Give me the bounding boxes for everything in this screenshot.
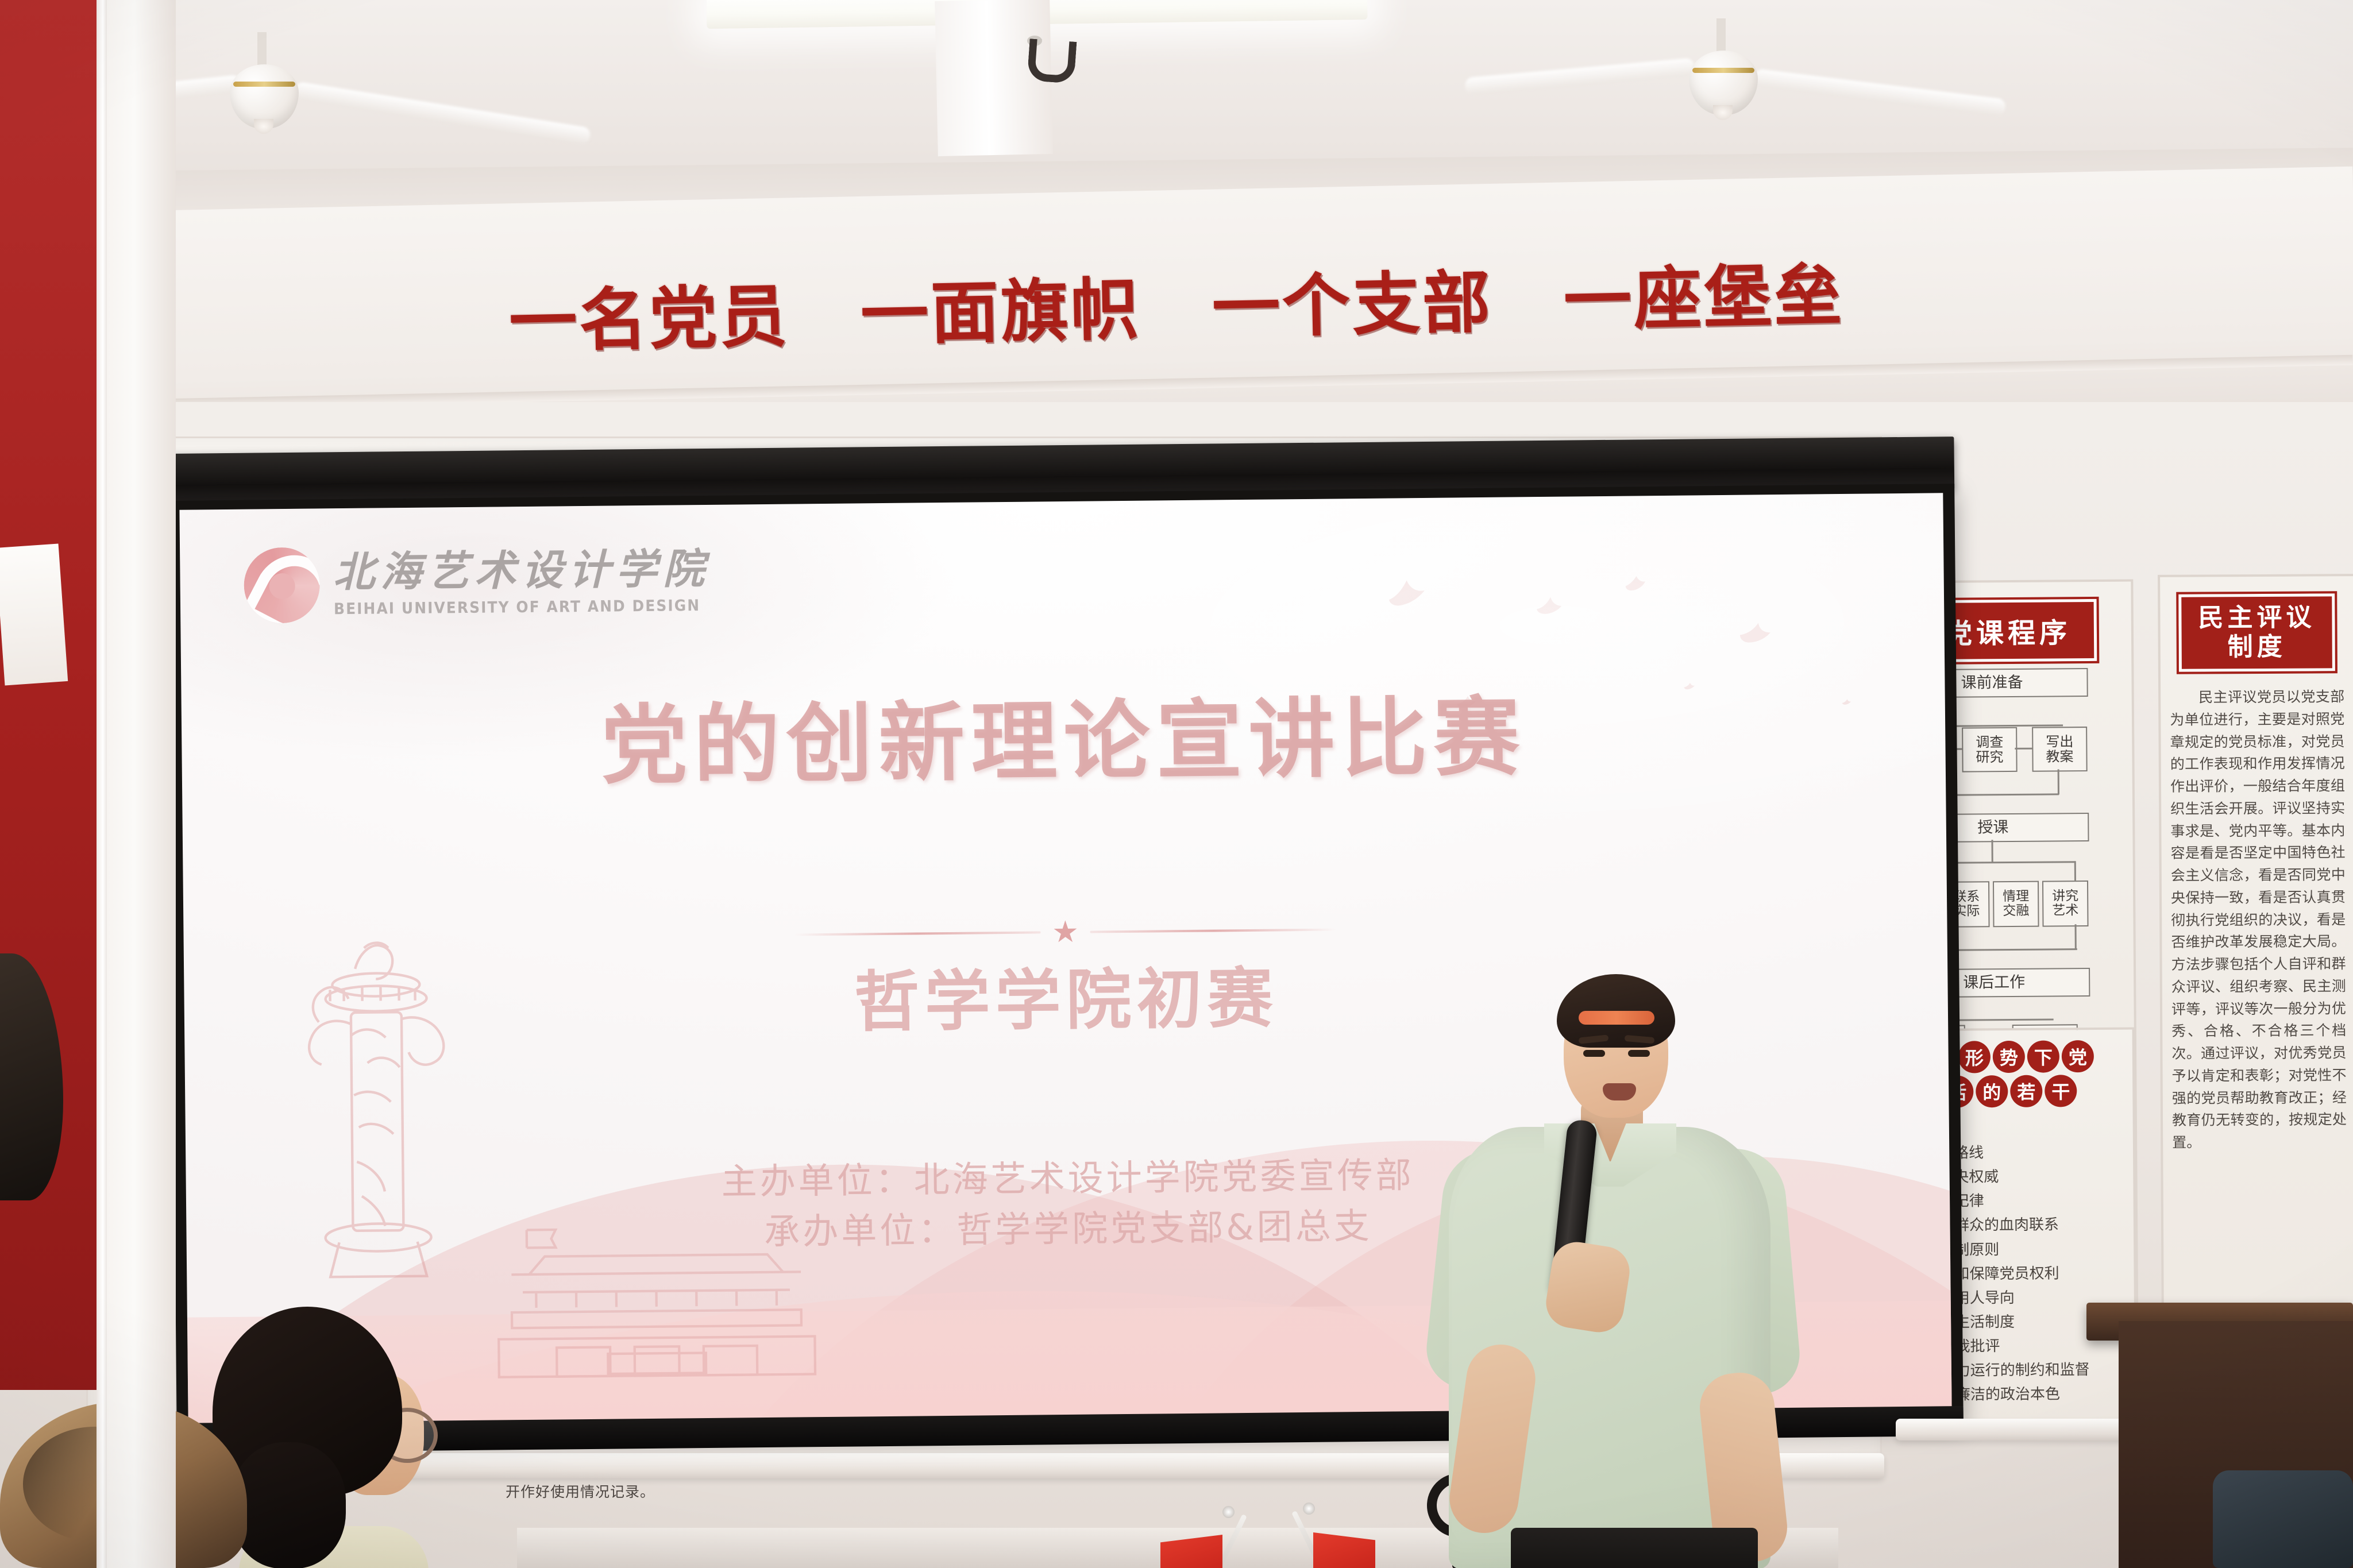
- poster-appraisal-body: 民主评议党员以党支部为单位进行，主要是对照党章规定的党员标准，对党员的工作表现和…: [2161, 671, 2353, 1169]
- flow-box-prep-3: 写出 教案: [2032, 727, 2088, 772]
- divider-star-icon: ★: [1052, 917, 1079, 947]
- poster-appraisal-title-line1: 民主评议: [2181, 603, 2332, 633]
- presenter-eye-left: [1583, 1050, 1605, 1057]
- flow-connector: [2074, 861, 2076, 880]
- university-logo: 北海艺术设计学院 BEIHAI UNIVERSITY OF ART AND DE…: [244, 543, 732, 624]
- fan-rod: [257, 32, 267, 67]
- title-bubble: 下: [2027, 1040, 2059, 1072]
- flow-box-prep-2: 调查 研究: [1962, 727, 2018, 773]
- white-wall-pillar: [107, 0, 176, 1568]
- fan-trim: [233, 82, 295, 87]
- flow-box-teach-3: 情理 交融: [1993, 881, 2039, 928]
- presenter-trousers: [1511, 1528, 1758, 1568]
- screen-hook-plate: [935, 0, 1053, 156]
- flow-connector: [2015, 748, 2032, 750]
- title-bubble: 形: [1958, 1041, 1991, 1073]
- flag-cloth: [1313, 1532, 1375, 1568]
- divider-bar-left: [793, 931, 1040, 936]
- title-bubble: 干: [2045, 1075, 2077, 1107]
- whiteboard-usage-note: 开作好使用情况记录。: [506, 1481, 655, 1501]
- title-bubble: 的: [1976, 1075, 2008, 1107]
- title-bubble: 党: [2062, 1040, 2094, 1072]
- classroom-scene: 一名党员 一面旗帜 一个支部 一座堡垒 开作好使用情况记录。 党课程序 课前准备…: [0, 0, 2353, 1568]
- presenter-mouth: [1603, 1083, 1636, 1100]
- presenter-forehead-highlight: [1579, 1011, 1654, 1025]
- flow-connector: [2058, 769, 2059, 794]
- projection-screen-hook-icon: [1027, 38, 1077, 84]
- office-chair: [2213, 1470, 2353, 1568]
- logo-chinese-name: 北海艺术设计学院: [333, 548, 732, 593]
- poster-appraisal-title: 民主评议 制度: [2178, 593, 2335, 672]
- presenter-eye-right: [1628, 1050, 1650, 1057]
- flow-connector: [2075, 924, 2077, 949]
- flag-tip: [1222, 1506, 1235, 1518]
- logo-english-name: BEIHAI UNIVERSITY OF ART AND DESIGN: [333, 597, 700, 618]
- flow-box-teach-4: 讲究 艺术: [2042, 880, 2089, 927]
- presenter: [1413, 976, 1810, 1568]
- divider-bar-right: [1090, 928, 1337, 933]
- flag-cloth: [1160, 1535, 1222, 1568]
- poster-appraisal-title-line2: 制度: [2182, 632, 2332, 662]
- chinese-desk-flag-left: [1160, 1514, 1235, 1567]
- beihai-swirl-logo-icon: [244, 547, 320, 624]
- slide-main-title: 党的创新理论宣讲比赛: [182, 690, 1946, 793]
- chinese-desk-flag-right: [1304, 1511, 1379, 1563]
- title-bubble: 势: [1993, 1041, 2025, 1073]
- audience-hair-bun: [231, 1442, 346, 1568]
- flag-tip: [1303, 1503, 1315, 1515]
- flow-connector: [1991, 840, 1993, 863]
- paper-notice: [0, 543, 68, 685]
- fan-trim: [1692, 68, 1754, 73]
- fan-rod: [1716, 18, 1726, 53]
- title-bubble: 若: [2010, 1075, 2042, 1107]
